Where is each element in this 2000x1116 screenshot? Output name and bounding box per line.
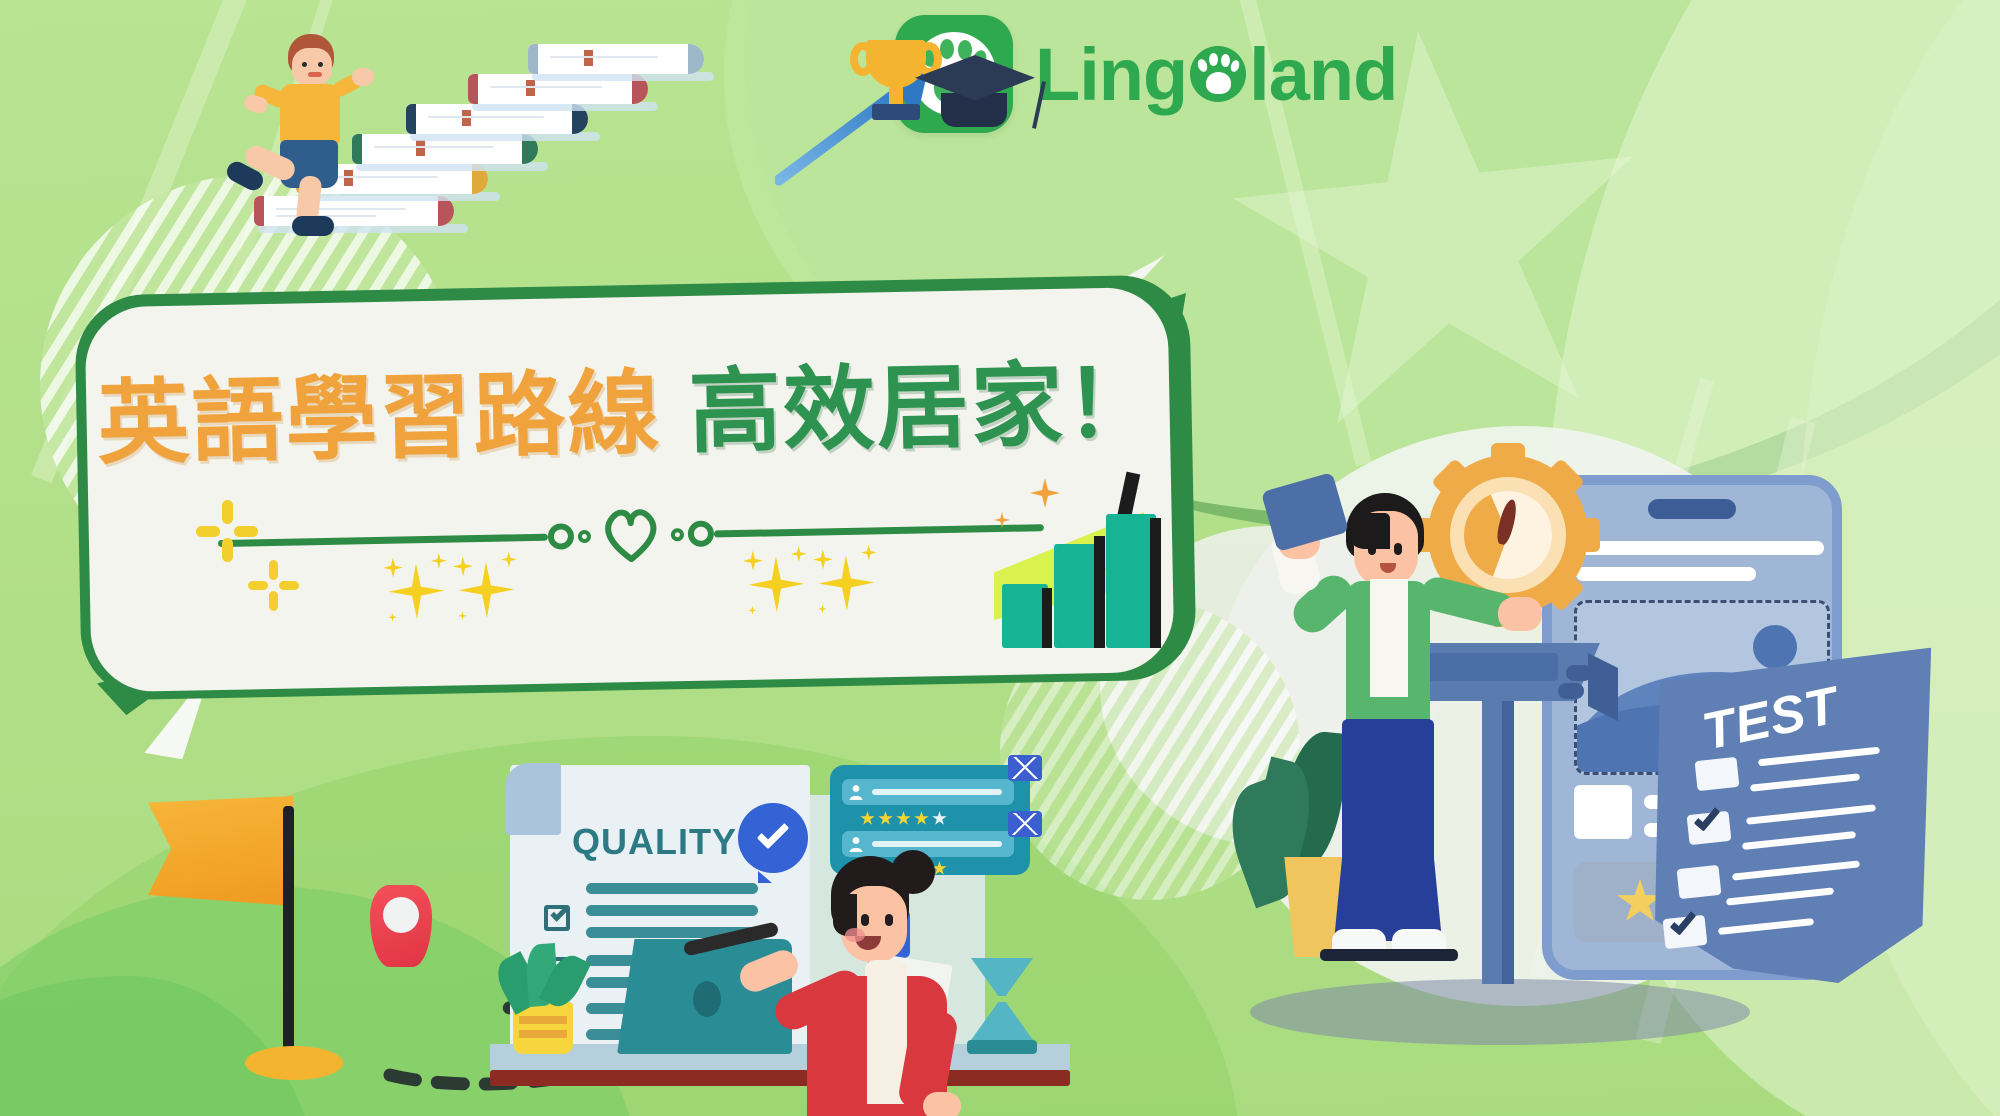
quality-checklist-scene: QUALITY — [495, 755, 1055, 1116]
graduation-cap-icon — [915, 55, 1045, 150]
sparkle-star-icon — [741, 544, 813, 625]
brand-name-suffix: land — [1249, 32, 1397, 117]
person-with-tablet-icon — [1250, 473, 1510, 973]
review-stars — [860, 811, 947, 826]
headline-green: 高效居家！ — [688, 353, 1160, 464]
avatar-icon — [847, 783, 865, 801]
potted-plant-icon — [513, 1002, 573, 1054]
growth-bar-chart-icon — [988, 470, 1188, 650]
test-document: TEST — [1650, 655, 1940, 985]
envelope-icon — [1008, 755, 1042, 781]
plus-sparkle-icon — [196, 500, 260, 564]
learning-path-stairs — [250, 0, 810, 260]
avatar-icon — [847, 835, 865, 853]
hero-banner: Ling land — [0, 0, 2000, 1116]
flag-pole — [283, 806, 294, 1056]
headline-orange: 英語學習路線 — [96, 363, 662, 476]
woman-presenter-icon — [745, 860, 975, 1116]
plus-sparkle-icon — [248, 560, 300, 612]
sparkle-star-icon — [381, 551, 453, 632]
quality-document-title: QUALITY — [572, 821, 737, 863]
paw-print-o-icon — [1190, 46, 1246, 102]
tablet-icon — [1261, 472, 1349, 552]
envelope-icon — [1008, 811, 1042, 837]
running-boy-icon — [240, 34, 370, 214]
page-title: 英語學習路線 高效居家！ — [85, 329, 1170, 483]
flag-base — [245, 1046, 343, 1080]
sparkle-star-icon — [811, 542, 883, 623]
brand-name: Ling land — [1035, 32, 1397, 117]
sparkle-star-icon — [451, 549, 523, 630]
paper-fold — [505, 763, 561, 835]
ground-shadow — [1250, 979, 1750, 1045]
brand-name-prefix: Ling — [1035, 32, 1187, 117]
testing-dashboard-scene: TEST — [1250, 455, 2000, 1055]
